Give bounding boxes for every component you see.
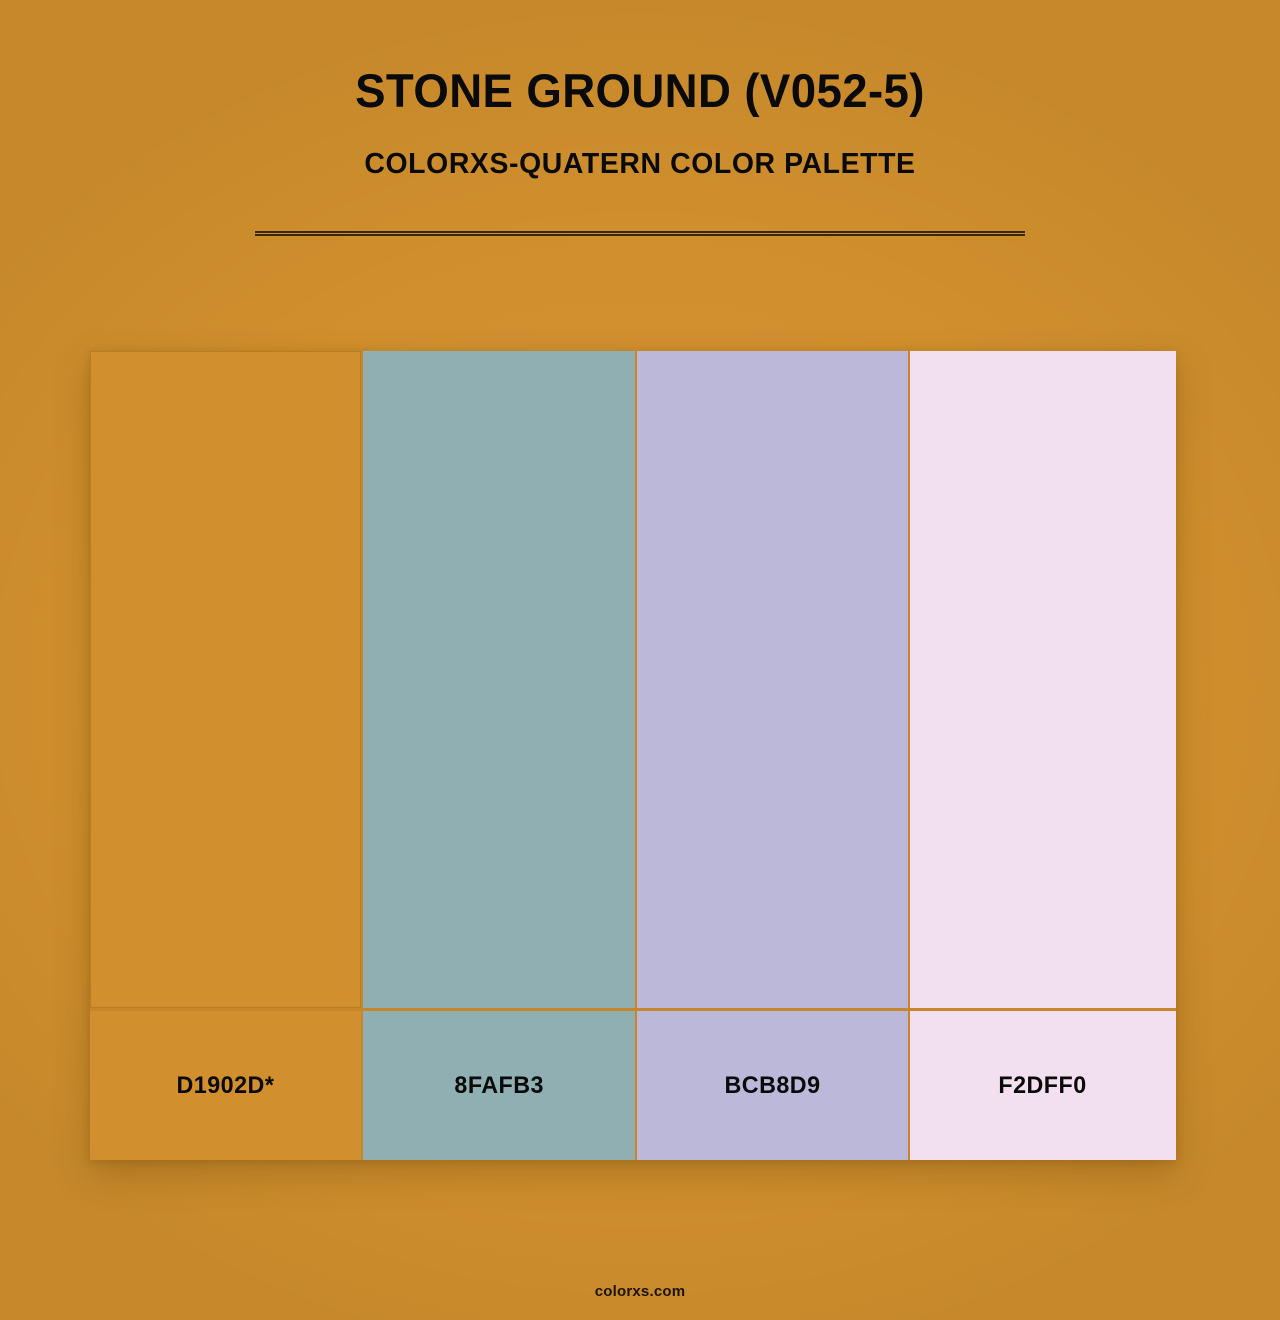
palette-card: D1902D* 8FAFB3 BCB8D9 F2DFF0 (90, 351, 1176, 1160)
color-label-cell-1[interactable]: D1902D* (90, 1011, 361, 1160)
swatch-row (90, 351, 1176, 1008)
color-swatch-3[interactable] (635, 351, 908, 1008)
color-hex-label-4: F2DFF0 (999, 1072, 1087, 1100)
site-credit: colorxs.com (595, 1283, 686, 1300)
swatch-label-row: D1902D* 8FAFB3 BCB8D9 F2DFF0 (90, 1008, 1176, 1160)
page-header: STONE GROUND (V052-5) COLORXS-QUATERN CO… (0, 66, 1280, 180)
palette-page: STONE GROUND (V052-5) COLORXS-QUATERN CO… (0, 0, 1280, 1320)
color-swatch-2[interactable] (361, 351, 635, 1008)
color-hex-label-3: BCB8D9 (724, 1072, 820, 1100)
color-label-cell-3[interactable]: BCB8D9 (635, 1011, 908, 1160)
divider-rule-top (255, 231, 1025, 233)
color-swatch-4[interactable] (908, 351, 1176, 1008)
divider-rule-bottom (255, 234, 1025, 236)
page-subtitle: COLORXS-QUATERN COLOR PALETTE (13, 116, 1267, 180)
color-swatch-1[interactable] (90, 351, 361, 1008)
color-label-cell-2[interactable]: 8FAFB3 (361, 1011, 635, 1160)
color-label-cell-4[interactable]: F2DFF0 (908, 1011, 1176, 1160)
title-divider (255, 231, 1025, 236)
page-footer: colorxs.com (0, 1283, 1280, 1301)
page-title: STONE GROUND (V052-5) (19, 66, 1261, 116)
color-hex-label-2: 8FAFB3 (454, 1072, 544, 1100)
color-hex-label-1: D1902D* (177, 1072, 275, 1100)
